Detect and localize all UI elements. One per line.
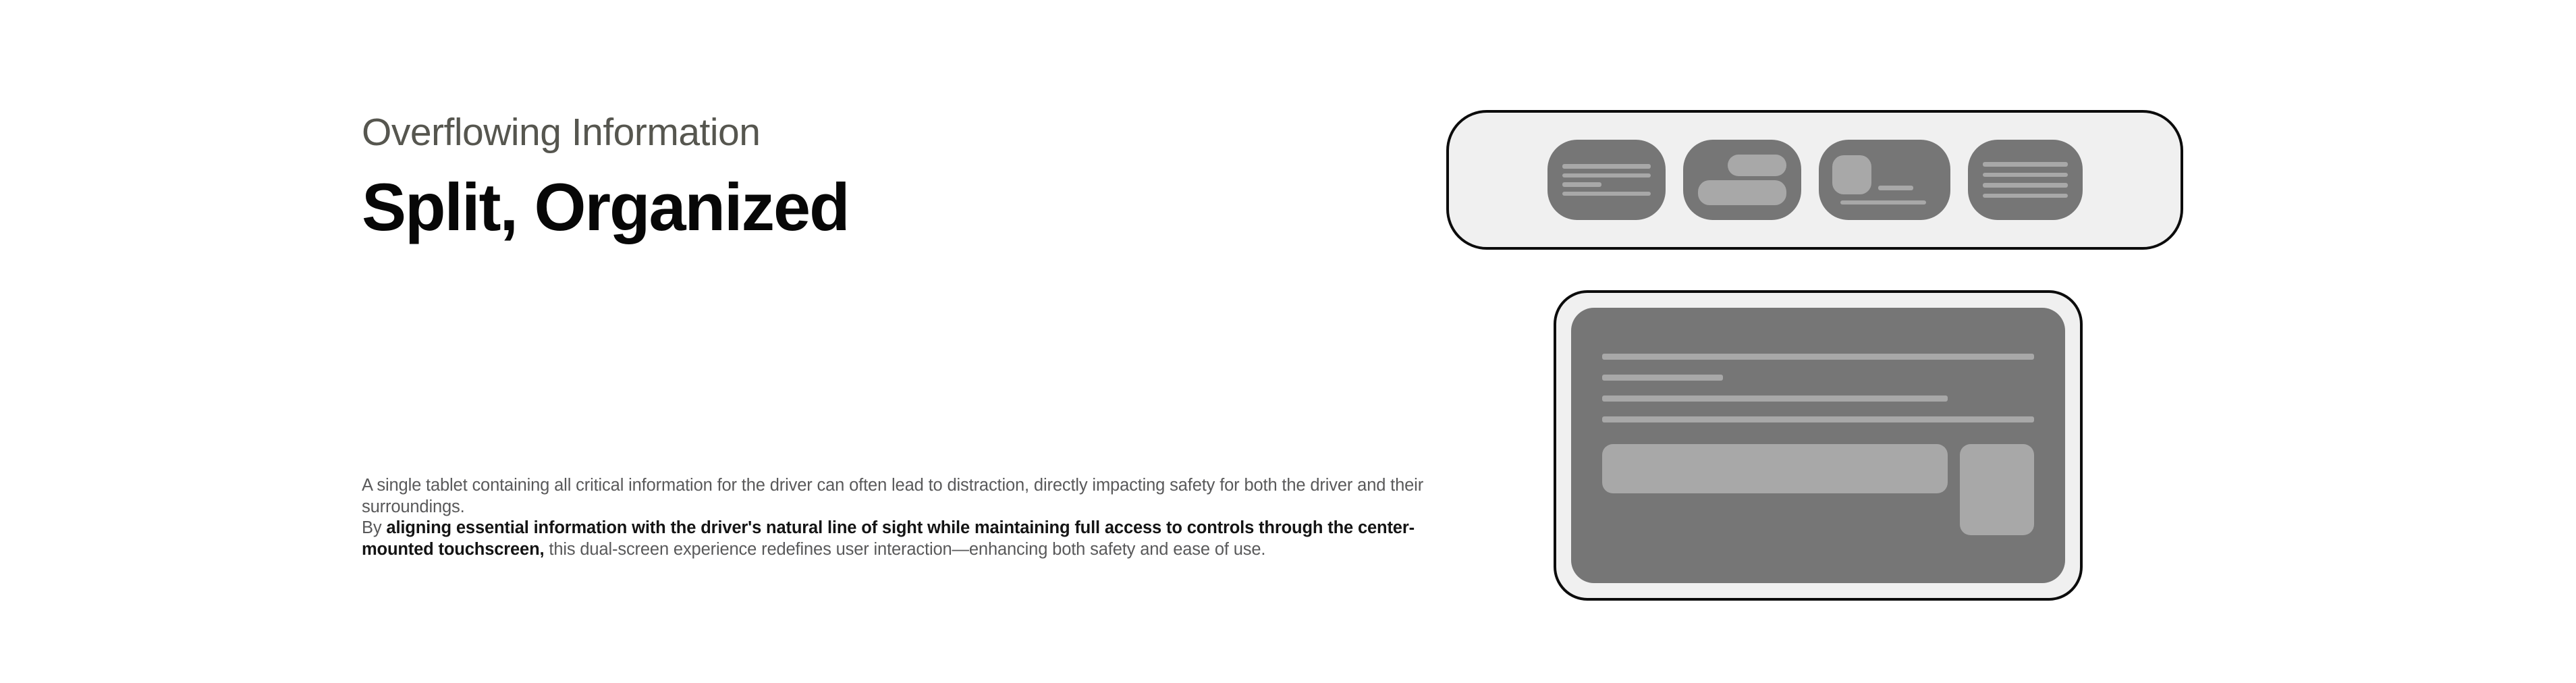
body-paragraph-2-tail: this dual-screen experience redefines us… xyxy=(544,540,1265,559)
driver-panel-stacked-blocks xyxy=(1683,140,1801,220)
skeleton-card-tall xyxy=(1960,444,2034,535)
skeleton-line xyxy=(1983,183,2068,188)
body-paragraph-1: A single tablet containing all critical … xyxy=(362,475,1435,518)
center-touchscreen-mockup xyxy=(1554,290,2083,601)
skeleton-line-short xyxy=(1562,182,1602,187)
body-paragraph-2: By aligning essential information with t… xyxy=(362,518,1435,560)
skeleton-block-small xyxy=(1728,155,1786,176)
hero-copy-block: Overflowing Information Split, Organized xyxy=(362,113,1442,240)
skeleton-thumbnail xyxy=(1832,155,1871,194)
page-title: Split, Organized xyxy=(362,152,1442,240)
touchscreen-card-row xyxy=(1602,444,2034,535)
touchscreen-screen-area xyxy=(1571,308,2065,583)
skeleton-block-wide xyxy=(1698,180,1786,205)
skeleton-line xyxy=(1562,164,1651,169)
body-paragraph-2-lead: By xyxy=(362,518,386,537)
skeleton-line xyxy=(1602,354,2034,360)
skeleton-line xyxy=(1562,192,1651,196)
driver-panel-text-lines xyxy=(1968,140,2083,220)
device-mockup-stage xyxy=(0,0,2576,683)
skeleton-line xyxy=(1983,162,2068,167)
page-eyebrow: Overflowing Information xyxy=(362,113,1442,152)
skeleton-line-short xyxy=(1602,375,1723,381)
skeleton-line xyxy=(1602,416,2034,422)
skeleton-line xyxy=(1983,173,2068,177)
skeleton-line xyxy=(1562,173,1651,178)
driver-panel-media-card xyxy=(1819,140,1950,220)
driver-panel-text-list xyxy=(1547,140,1666,220)
skeleton-line-medium xyxy=(1602,395,1948,402)
skeleton-line-wide xyxy=(1840,200,1926,205)
skeleton-card-wide xyxy=(1602,444,1948,493)
media-card-row xyxy=(1832,155,1937,194)
body-copy: A single tablet containing all critical … xyxy=(362,475,1435,560)
skeleton-line xyxy=(1983,194,2068,198)
driver-display-mockup xyxy=(1446,110,2183,250)
skeleton-line-stub xyxy=(1878,186,1913,190)
